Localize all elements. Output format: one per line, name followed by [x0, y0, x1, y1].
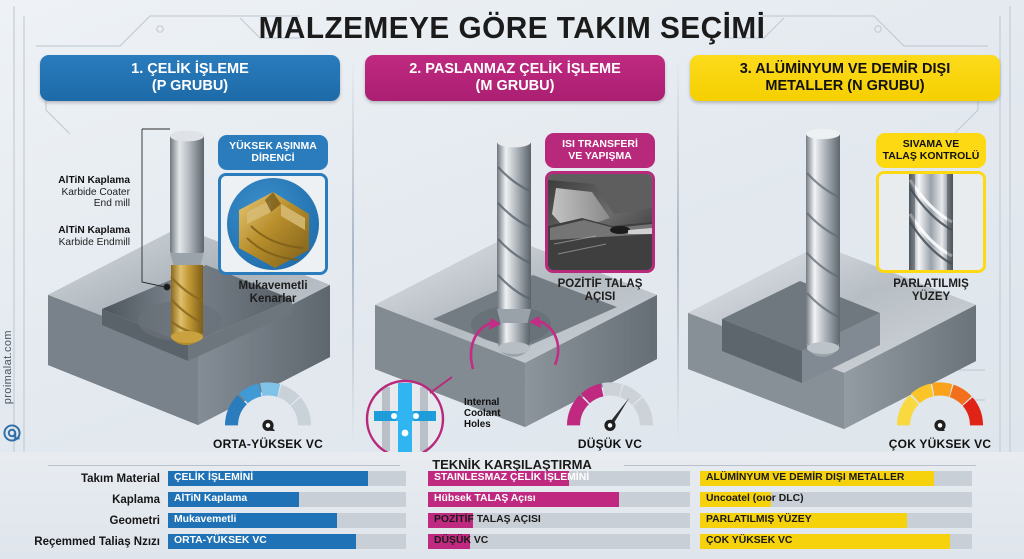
page-title: MALZEMEYE GÖRE TAKIM SEÇİMİ — [20, 10, 1003, 46]
annotation-coater-endmill: AlTiN Kaplama Karbide Coater End mill — [10, 175, 130, 210]
callout-smearing-caption: PARLATILMIŞ YÜZEY — [876, 278, 986, 304]
gauge-steel: ORTA-YÜKSEK VC — [208, 373, 328, 451]
gauge-steel-label: ORTA-YÜKSEK VC — [208, 437, 328, 451]
gauge-stainless: DÜŞÜK VC — [550, 373, 670, 451]
table-cell-1-1: Hübsek TALAŞ Açısı — [428, 492, 690, 507]
table-cell-3-0: ORTA-YÜKSEK VC — [168, 534, 406, 549]
table-row-label-1: Kaplama — [0, 494, 160, 506]
table-cell-1-0: AlTiN Kaplama — [168, 492, 406, 507]
comparison-table: TEKNİK KARŞILAŞTIRMA Takım Material ÇELİ… — [0, 452, 1024, 559]
callout-heat-transfer: ISI TRANSFERİ VE YAPIŞMA — [545, 133, 655, 304]
table-title: TEKNİK KARŞILAŞTIRMA — [0, 457, 1024, 472]
callout-heat-header-line1: ISI TRANSFERİ — [549, 138, 651, 150]
chip-adhesion-micrograph-icon — [548, 174, 652, 270]
callout-heat-caption-line2: AÇISI — [545, 291, 655, 304]
table-cell-0-0: ÇELİK İŞLEMİNİ — [168, 471, 406, 486]
table-cell-text-0-2: ALÜMİNYUM VE DEMİR DIŞI METALLER — [706, 472, 904, 483]
panel-steel: 1. ÇELİK İŞLEME (P GRUBU) — [30, 55, 350, 445]
panel-divider-1 — [352, 58, 354, 443]
callout-smearing-header-line1: SIVAMA VE — [880, 138, 982, 150]
callout-smearing-caption-line2: YÜZEY — [876, 291, 986, 304]
callout-heat-caption-line1: POZİTİF TALAŞ — [545, 278, 655, 291]
panel-aluminium-header: 3. ALÜMİNYUM VE DEMİR DIŞI METALLER (N G… — [690, 55, 1000, 101]
panel-divider-2 — [677, 58, 679, 443]
table-row-label-0: Takım Material — [0, 473, 160, 485]
annotation-coater-line1: Karbide Coater — [10, 187, 130, 199]
callout-wear-caption-line1: Mukavemetli — [218, 280, 328, 293]
table-cell-text-0-0: ÇELİK İŞLEMİNİ — [174, 472, 253, 483]
panel-stainless-title-line2: (M GRUBU) — [409, 78, 621, 95]
table-cell-text-3-0: ORTA-YÜKSEK VC — [174, 535, 267, 546]
table-row-label-2: Geometri — [0, 515, 160, 527]
table-cell-3-1: DÜŞÜK VC — [428, 534, 690, 549]
table-cell-3-2: ÇOK YÜKSEK VC — [700, 534, 972, 549]
table-cell-text-2-2: PARLATILMIŞ YÜZEY — [706, 514, 812, 525]
at-sign-logo-icon — [3, 424, 21, 442]
table-cell-text-0-1: STAINLESMAZ ÇELİK İŞLEMİNİ — [434, 472, 589, 483]
callout-wear-image — [218, 173, 328, 275]
gauge-stainless-dial-icon — [550, 373, 670, 431]
callout-smearing-control: SIVAMA VE TALAŞ KONTROLÜ — [876, 133, 986, 304]
panel-steel-title-line2: (P GRUBU) — [131, 78, 249, 95]
table-cell-2-0: Mukavemetli — [168, 513, 406, 528]
table-cell-text-1-2: Uncoatel (oıor DLC) — [706, 493, 804, 504]
table-cell-text-1-0: AlTiN Kaplama — [174, 493, 247, 504]
gauge-stainless-label: DÜŞÜK VC — [550, 437, 670, 451]
table-row-label-3: Reçemmed Taliaş Nzızı — [0, 536, 160, 548]
panel-stainless-title-line1: 2. PASLANMAZ ÇELİK İŞLEME — [409, 61, 621, 78]
gauge-aluminium-dial-icon — [880, 373, 1000, 431]
callout-heat-image — [545, 171, 655, 273]
table-cell-1-2: Uncoatel (oıor DLC) — [700, 492, 972, 507]
table-cell-text-3-1: DÜŞÜK VC — [434, 535, 488, 546]
callout-wear-caption-line2: Kenarlar — [218, 293, 328, 306]
annotation-endmill-line1: Karbide Endmill — [10, 237, 130, 249]
callout-wear-header: YÜKSEK AŞINMA DİRENCİ — [218, 135, 328, 170]
callout-smearing-header: SIVAMA VE TALAŞ KONTROLÜ — [876, 133, 986, 168]
callout-wear-header-line2: DİRENCİ — [222, 152, 324, 164]
annotation-coater-line2: End mill — [10, 198, 130, 210]
table-cell-text-2-0: Mukavemetli — [174, 514, 236, 525]
callout-smearing-caption-line1: PARLATILMIŞ — [876, 278, 986, 291]
coolant-label: Internal Coolant Holes — [464, 397, 500, 430]
panel-stainless: 2. PASLANMAZ ÇELİK İŞLEME (M GRUBU) — [355, 55, 675, 445]
table-cell-0-2: ALÜMİNYUM VE DEMİR DIŞI METALLER — [700, 471, 972, 486]
table-cell-text-2-1: POZİTİF TALAŞ AÇISI — [434, 514, 541, 525]
panel-aluminium: 3. ALÜMİNYUM VE DEMİR DIŞI METALLER (N G… — [680, 55, 1010, 445]
gold-endmill-tip-icon — [221, 176, 325, 272]
callout-wear-resistance: YÜKSEK AŞINMA DİRENCİ — [218, 135, 328, 306]
coolant-channel-diagram-icon — [360, 375, 460, 461]
gauge-aluminium-label: ÇOK YÜKSEK VC — [880, 437, 1000, 451]
panel-steel-header: 1. ÇELİK İŞLEME (P GRUBU) — [40, 55, 340, 101]
gauge-aluminium: ÇOK YÜKSEK VC — [880, 373, 1000, 451]
callout-heat-caption: POZİTİF TALAŞ AÇISI — [545, 278, 655, 304]
table-cell-2-1: POZİTİF TALAŞ AÇISI — [428, 513, 690, 528]
callout-smearing-image — [876, 171, 986, 273]
annotation-endmill-title: AlTiN Kaplama — [10, 225, 130, 237]
title-bar: MALZEMEYE GÖRE TAKIM SEÇİMİ — [0, 4, 1024, 50]
infographic-root: MALZEMEYE GÖRE TAKIM SEÇİMİ 1. ÇELİK İŞL… — [0, 0, 1024, 559]
table-cell-text-1-1: Hübsek TALAŞ Açısı — [434, 493, 536, 504]
table-cell-text-3-2: ÇOK YÜKSEK VC — [706, 535, 792, 546]
annotation-coater-title: AlTiN Kaplama — [10, 175, 130, 187]
panel-steel-title-line1: 1. ÇELİK İŞLEME — [131, 61, 249, 78]
callout-heat-header-line2: VE YAPIŞMA — [549, 150, 651, 162]
callout-wear-header-line1: YÜKSEK AŞINMA — [222, 140, 324, 152]
coolant-label-line2: Coolant — [464, 408, 500, 419]
coolant-label-line3: Holes — [464, 419, 500, 430]
table-cell-2-2: PARLATILMIŞ YÜZEY — [700, 513, 972, 528]
callout-heat-header: ISI TRANSFERİ VE YAPIŞMA — [545, 133, 655, 168]
polished-flute-endmill-icon — [879, 174, 983, 270]
callout-wear-caption: Mukavemetli Kenarlar — [218, 280, 328, 306]
coolant-label-line1: Internal — [464, 397, 500, 408]
watermark-text: proimalat.com — [2, 330, 20, 404]
callout-smearing-header-line2: TALAŞ KONTROLÜ — [880, 150, 982, 162]
gauge-steel-dial-icon — [208, 373, 328, 431]
table-cell-0-1: STAINLESMAZ ÇELİK İŞLEMİNİ — [428, 471, 690, 486]
panel-stainless-header: 2. PASLANMAZ ÇELİK İŞLEME (M GRUBU) — [365, 55, 665, 101]
panel-aluminium-title-line2: METALLER (N GRUBU) — [740, 78, 951, 95]
annotation-karbide-endmill: AlTiN Kaplama Karbide Endmill — [10, 225, 130, 248]
panel-aluminium-title-line1: 3. ALÜMİNYUM VE DEMİR DIŞI — [740, 61, 951, 78]
